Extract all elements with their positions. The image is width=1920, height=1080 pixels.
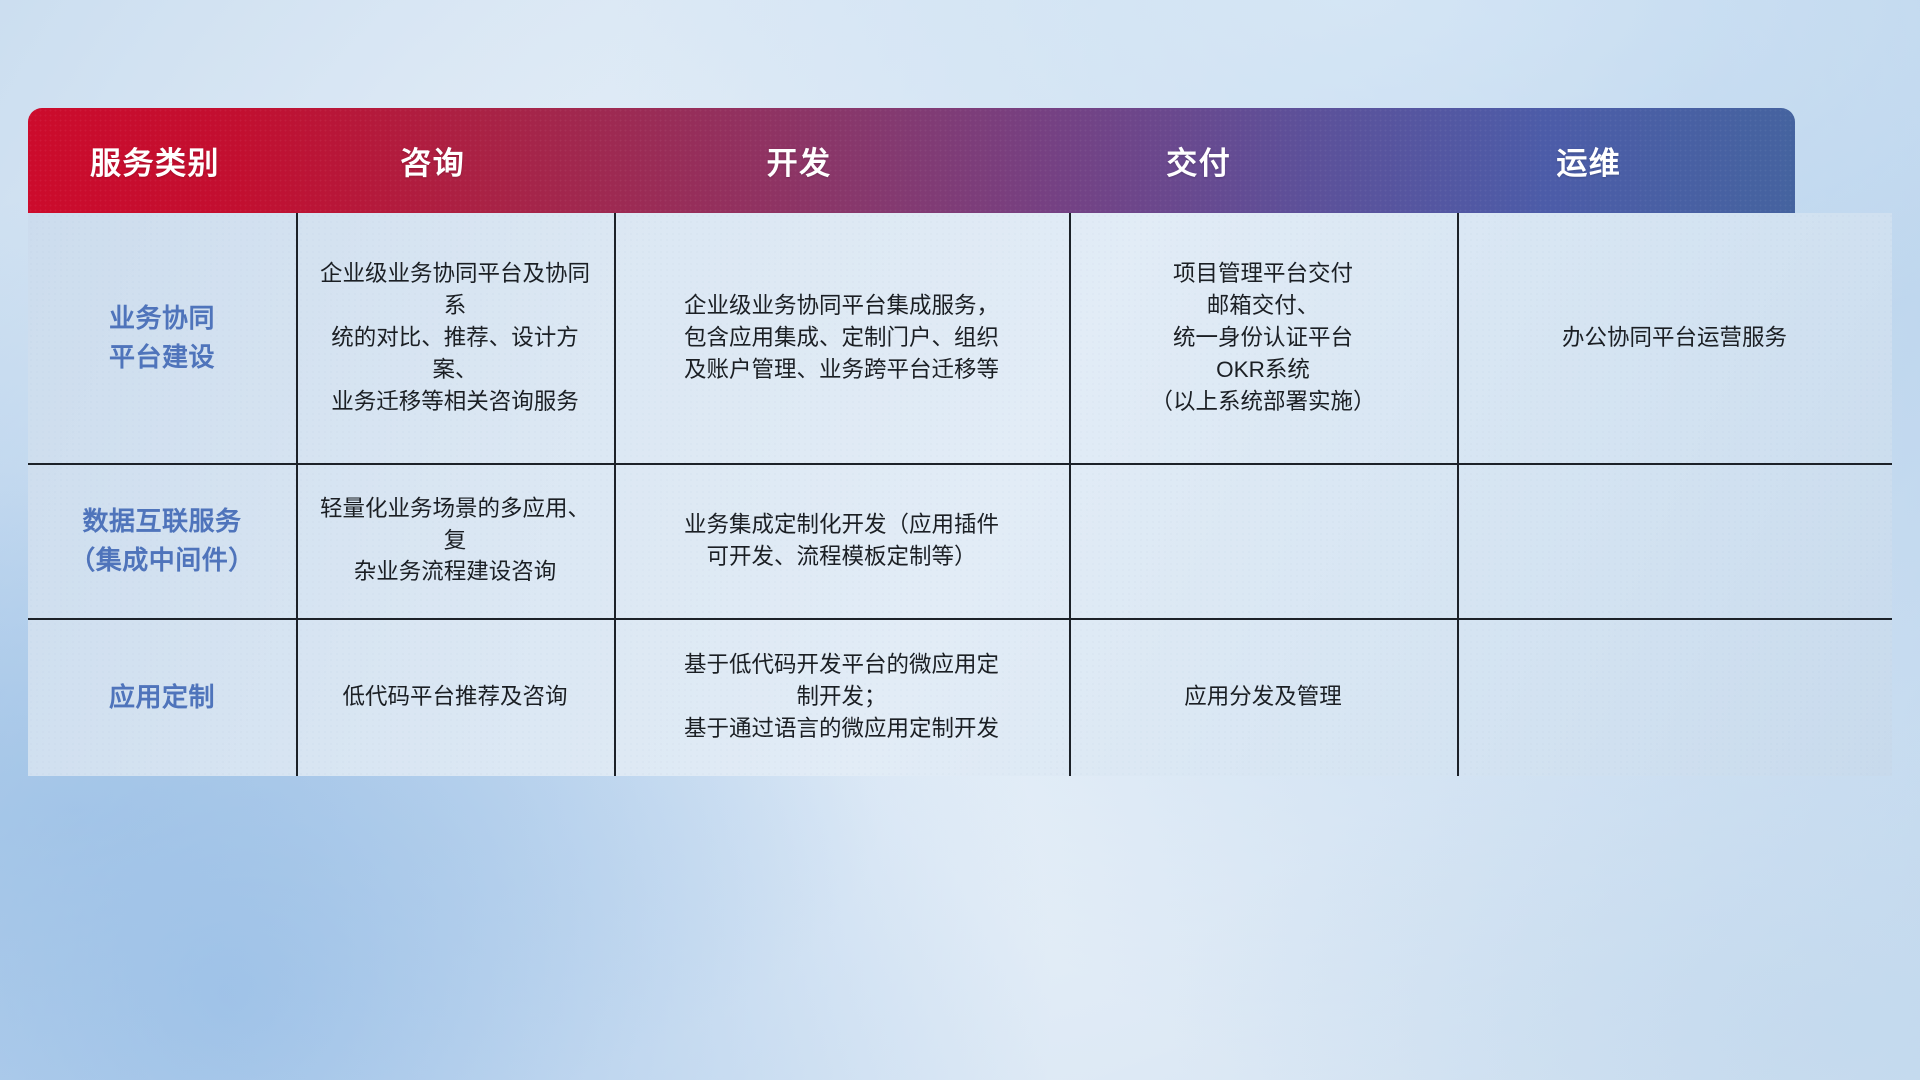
column-header-development: 开发 [584, 108, 1015, 213]
column-header-label: 交付 [1166, 138, 1231, 183]
cell-text: 业务集成定制化开发（应用插件 可开发、流程模板定制等） [684, 509, 999, 573]
cell-development: 业务集成定制化开发（应用插件 可开发、流程模板定制等） [614, 463, 1069, 618]
cell-delivery [1069, 463, 1457, 618]
cell-development: 基于低代码开发平台的微应用定 制开发； 基于通过语言的微应用定制开发 [614, 618, 1069, 776]
cell-text: 应用分发及管理 [1184, 681, 1342, 713]
column-divider [1457, 213, 1459, 776]
cell-text: 低代码平台推荐及咨询 [342, 681, 567, 713]
row-category-cell: 数据互联服务 （集成中间件） [28, 463, 296, 618]
row-category-cell: 业务协同 平台建设 [28, 213, 296, 463]
column-header-consulting: 咨询 [282, 108, 583, 213]
column-header-label: 运维 [1556, 138, 1621, 183]
column-divider [614, 213, 616, 776]
column-header-label: 咨询 [400, 138, 465, 183]
cell-operations [1457, 618, 1892, 776]
column-divider [296, 213, 298, 776]
cell-operations [1457, 463, 1892, 618]
cell-text: 轻量化业务场景的多应用、复 杂业务流程建设咨询 [312, 493, 598, 589]
cell-text: 项目管理平台交付 邮箱交付、 统一身份认证平台 OKR系统 （以上系统部署实施） [1150, 258, 1375, 418]
cell-consulting: 轻量化业务场景的多应用、复 杂业务流程建设咨询 [296, 463, 614, 618]
row-divider [28, 463, 1892, 465]
cell-operations: 办公协同平台运营服务 [1457, 213, 1892, 463]
cell-text: 业务协同 平台建设 [109, 299, 215, 377]
cell-consulting: 低代码平台推荐及咨询 [296, 618, 614, 776]
service-matrix-table: 服务类别 咨询 开发 交付 运维 业务协同 平台建设 企业级业务协同平台及协同系 [28, 108, 1892, 776]
cell-text: 企业级业务协同平台集成服务， 包含应用集成、定制门户、组织 及账户管理、业务跨平… [684, 290, 999, 386]
column-divider [1069, 213, 1071, 776]
cell-text: 基于低代码开发平台的微应用定 制开发； 基于通过语言的微应用定制开发 [684, 649, 999, 745]
cell-text: 办公协同平台运营服务 [1562, 322, 1787, 354]
cell-text: 数据互联服务 （集成中间件） [69, 502, 255, 580]
cell-consulting: 企业级业务协同平台及协同系 统的对比、推荐、设计方案、 业务迁移等相关咨询服务 [296, 213, 614, 463]
table-row: 业务协同 平台建设 企业级业务协同平台及协同系 统的对比、推荐、设计方案、 业务… [28, 213, 1892, 463]
column-header-label: 服务类别 [90, 138, 220, 183]
table-body: 业务协同 平台建设 企业级业务协同平台及协同系 统的对比、推荐、设计方案、 业务… [28, 213, 1892, 776]
row-divider [28, 618, 1892, 620]
cell-text: 应用定制 [109, 678, 215, 717]
column-header-operations: 运维 [1383, 108, 1795, 213]
column-header-delivery: 交付 [1015, 108, 1383, 213]
column-header-label: 开发 [767, 138, 832, 183]
column-header-category: 服务类别 [28, 108, 282, 213]
table-header-row: 服务类别 咨询 开发 交付 运维 [28, 108, 1795, 213]
cell-delivery: 应用分发及管理 [1069, 618, 1457, 776]
cell-delivery: 项目管理平台交付 邮箱交付、 统一身份认证平台 OKR系统 （以上系统部署实施） [1069, 213, 1457, 463]
cell-development: 企业级业务协同平台集成服务， 包含应用集成、定制门户、组织 及账户管理、业务跨平… [614, 213, 1069, 463]
table-row: 应用定制 低代码平台推荐及咨询 基于低代码开发平台的微应用定 制开发； 基于通过… [28, 618, 1892, 776]
table-row: 数据互联服务 （集成中间件） 轻量化业务场景的多应用、复 杂业务流程建设咨询 业… [28, 463, 1892, 618]
row-category-cell: 应用定制 [28, 618, 296, 776]
cell-text: 企业级业务协同平台及协同系 统的对比、推荐、设计方案、 业务迁移等相关咨询服务 [312, 258, 598, 418]
